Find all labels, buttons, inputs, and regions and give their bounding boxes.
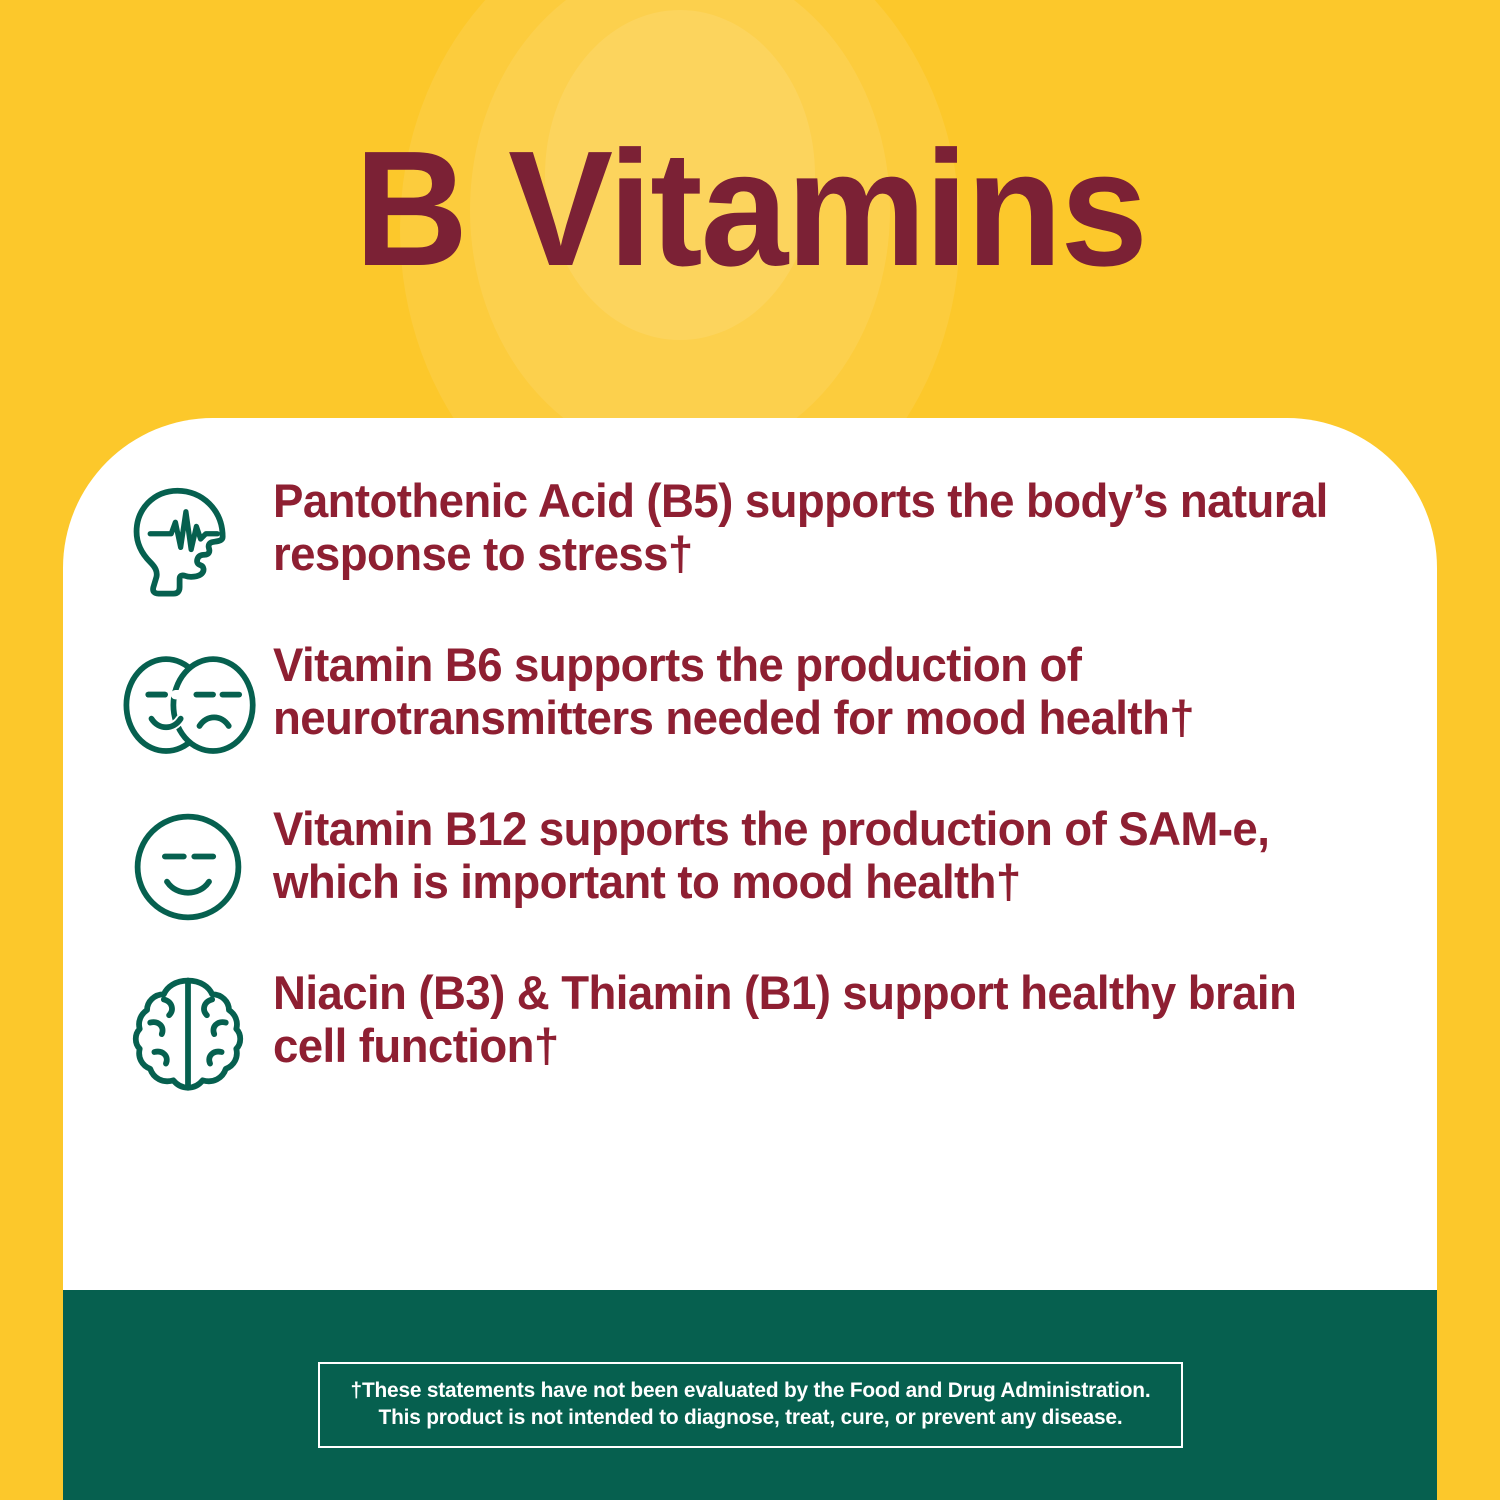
benefit-lead: Niacin (B3) & Thiamin (B1) bbox=[273, 966, 830, 1019]
benefits-list: Pantothenic Acid (B5) supports the body’… bbox=[103, 472, 1397, 1094]
footer-band: †These statements have not been evaluate… bbox=[63, 1290, 1437, 1500]
benefit-lead: Vitamin B6 bbox=[273, 638, 502, 691]
poster-canvas: B Vitamins Pantothenic Acid (B5) support… bbox=[0, 0, 1500, 1500]
benefit-item-b12: Vitamin B12 supports the production of S… bbox=[103, 800, 1397, 930]
disclaimer-box: †These statements have not been evaluate… bbox=[318, 1362, 1183, 1448]
benefit-text: Pantothenic Acid (B5) supports the body’… bbox=[273, 472, 1363, 580]
page-title: B Vitamins bbox=[354, 127, 1146, 291]
benefit-item-b5: Pantothenic Acid (B5) supports the body’… bbox=[103, 472, 1397, 602]
brain-icon bbox=[103, 964, 273, 1094]
benefit-item-b3-b1: Niacin (B3) & Thiamin (B1) support healt… bbox=[103, 964, 1397, 1094]
disclaimer-line-1: †These statements have not been evaluate… bbox=[350, 1377, 1150, 1404]
smiley-face-icon bbox=[103, 800, 273, 930]
header-band: B Vitamins bbox=[0, 0, 1500, 418]
benefit-lead: Vitamin B12 bbox=[273, 802, 527, 855]
benefits-card: Pantothenic Acid (B5) supports the body’… bbox=[63, 418, 1437, 1290]
two-faces-icon bbox=[103, 636, 273, 766]
disclaimer-line-2: This product is not intended to diagnose… bbox=[350, 1404, 1150, 1431]
benefit-lead: Pantothenic Acid (B5) bbox=[273, 474, 733, 527]
benefit-text: Vitamin B12 supports the production of S… bbox=[273, 800, 1363, 908]
benefit-text: Vitamin B6 supports the production of ne… bbox=[273, 636, 1363, 744]
head-pulse-icon bbox=[103, 472, 273, 602]
benefit-item-b6: Vitamin B6 supports the production of ne… bbox=[103, 636, 1397, 766]
benefit-text: Niacin (B3) & Thiamin (B1) support healt… bbox=[273, 964, 1363, 1072]
